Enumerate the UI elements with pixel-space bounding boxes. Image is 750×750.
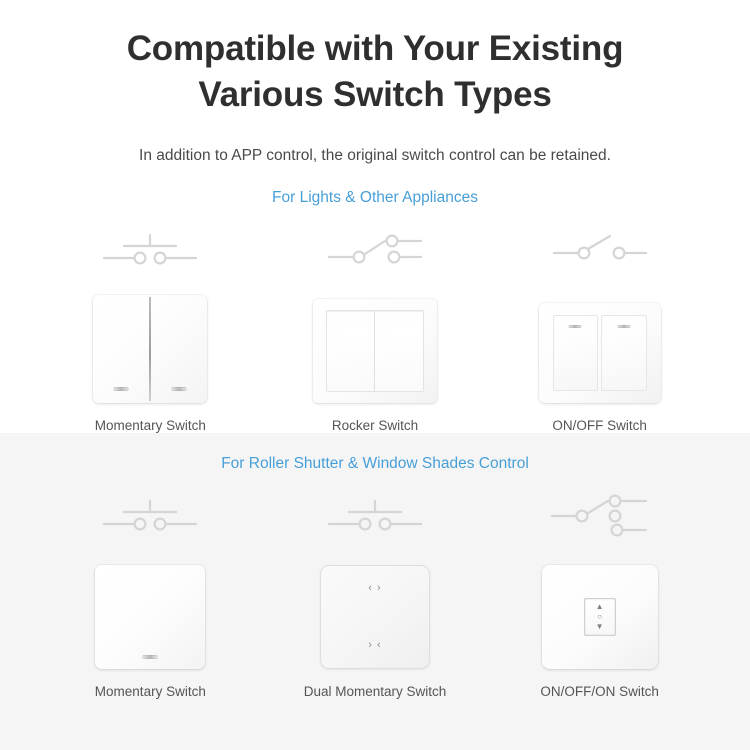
led-indicator bbox=[569, 325, 582, 328]
card-caption: ON/OFF Switch bbox=[552, 418, 647, 433]
push-button-symbol bbox=[323, 489, 427, 541]
onoffon-shutter-switch: ▲ ○ ▼ bbox=[542, 547, 658, 669]
switch-gang-right bbox=[151, 295, 207, 403]
card-row-lights: Momentary Switch bbox=[0, 223, 750, 433]
led-indicator bbox=[172, 387, 187, 391]
page-title-line-2: Various Switch Types bbox=[198, 75, 551, 114]
section-roller-shutter: For Roller Shutter & Window Shades Contr… bbox=[0, 433, 750, 750]
stop-circle-icon: ○ bbox=[597, 613, 602, 621]
card-row-shutter: Momentary Switch bbox=[0, 489, 750, 699]
page-title-line-1: Compatible with Your Existing bbox=[127, 29, 624, 68]
dual-momentary-shutter-switch: ‹ › › ‹ bbox=[320, 547, 430, 669]
page-title: Compatible with Your Existing Various Sw… bbox=[40, 26, 710, 118]
push-button-symbol bbox=[98, 489, 202, 541]
shutter-close-icon: › ‹ bbox=[368, 640, 381, 651]
led-indicator bbox=[143, 655, 158, 659]
two-gang-onoff-switch bbox=[539, 281, 661, 403]
rocker-left bbox=[553, 315, 599, 391]
rocker-group bbox=[326, 310, 424, 392]
three-position-changeover-symbol bbox=[548, 489, 652, 541]
two-gang-rocker-switch bbox=[313, 281, 437, 403]
card-onoff-switch: ON/OFF Switch bbox=[500, 223, 700, 433]
single-gang-momentary-switch bbox=[95, 547, 205, 669]
card-momentary-switch: Momentary Switch bbox=[50, 223, 250, 433]
card-momentary-switch-shutter: Momentary Switch bbox=[50, 489, 250, 699]
led-indicator bbox=[114, 387, 129, 391]
card-onoffon-switch: ▲ ○ ▼ ON/OFF/ON Switch bbox=[500, 489, 700, 699]
arrow-down-icon: ▼ bbox=[596, 623, 604, 631]
card-dual-momentary-switch: ‹ › › ‹ Dual Momentary Switch bbox=[275, 489, 475, 699]
card-caption: Momentary Switch bbox=[95, 418, 206, 433]
shutter-open-icon: ‹ › bbox=[368, 583, 381, 594]
spst-open-blade-symbol bbox=[548, 223, 652, 275]
section-lights-appliances: For Lights & Other Appliances bbox=[0, 167, 750, 433]
led-indicator bbox=[617, 325, 630, 328]
card-caption: Dual Momentary Switch bbox=[304, 684, 447, 699]
section-title-shutter: For Roller Shutter & Window Shades Contr… bbox=[0, 455, 750, 473]
switch-gang-left bbox=[93, 295, 149, 403]
two-gang-momentary-switch bbox=[93, 281, 207, 403]
heading-block: Compatible with Your Existing Various Sw… bbox=[0, 0, 750, 167]
section-title-lights: For Lights & Other Appliances bbox=[0, 189, 750, 207]
infographic-page: Compatible with Your Existing Various Sw… bbox=[0, 0, 750, 750]
rocker-right bbox=[374, 311, 423, 391]
rocker-left bbox=[327, 311, 375, 391]
rocker-right bbox=[601, 315, 647, 391]
card-caption: ON/OFF/ON Switch bbox=[540, 684, 659, 699]
spdt-changeover-symbol bbox=[323, 223, 427, 275]
push-button-symbol bbox=[98, 223, 202, 275]
card-rocker-switch: Rocker Switch bbox=[275, 223, 475, 433]
card-caption: Rocker Switch bbox=[332, 418, 418, 433]
shutter-rocker: ▲ ○ ▼ bbox=[584, 598, 616, 636]
arrow-up-icon: ▲ bbox=[596, 603, 604, 611]
page-subtitle: In addition to APP control, the original… bbox=[40, 145, 710, 167]
card-caption: Momentary Switch bbox=[95, 684, 206, 699]
